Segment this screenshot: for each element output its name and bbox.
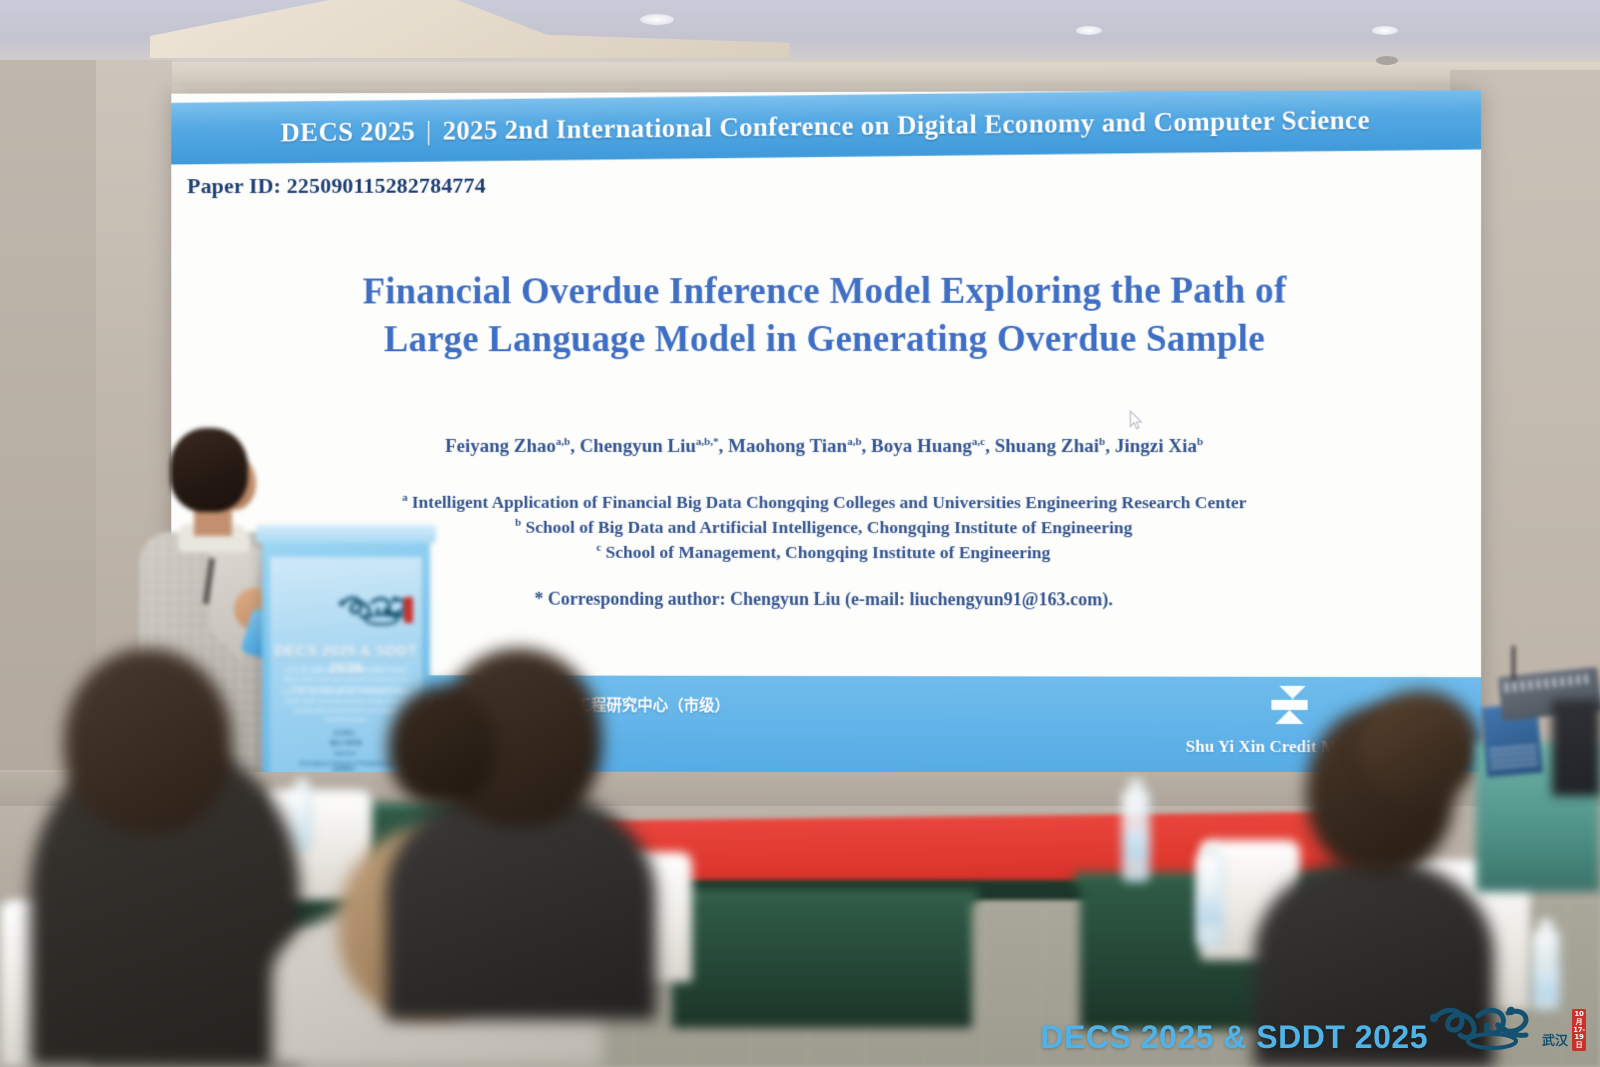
podium-subtitle-cn-2: 2025 第三届可持续发展与数字化转型国际学术会议 bbox=[276, 689, 416, 698]
conference-2025-logo-icon bbox=[336, 591, 412, 627]
mouse-cursor-icon bbox=[1129, 410, 1144, 431]
watermark: DECS 2025 & SDDT 2025 武汉 10月 17- 19日 bbox=[1040, 999, 1586, 1053]
affiliation-item: a Intelligent Application of Financial B… bbox=[191, 490, 1461, 516]
watermark-date-line-1: 10月 bbox=[1572, 1011, 1586, 1027]
presenter-head bbox=[170, 428, 248, 512]
slide-title-line-2: Large Language Model in Generating Overd… bbox=[231, 316, 1421, 365]
slide-title-line-1: Financial Overdue Inference Model Explor… bbox=[231, 267, 1421, 316]
author-entry: Boya Huanga,c bbox=[871, 436, 985, 457]
downlight-icon bbox=[1372, 26, 1398, 35]
paper-id-label: Paper ID: 225090115282784774 bbox=[187, 173, 486, 199]
slide-title: Financial Overdue Inference Model Explor… bbox=[231, 267, 1421, 364]
banner-conference-code: DECS 2025 bbox=[281, 115, 416, 147]
podium-date-tag bbox=[404, 597, 413, 623]
bottle-label bbox=[1196, 895, 1224, 925]
watermark-text: DECS 2025 & SDDT 2025 bbox=[1040, 1021, 1428, 1053]
author-list: Feiyang Zhaoa,b, Chengyun Liua,b,*, Maoh… bbox=[211, 436, 1441, 458]
av-stand bbox=[1512, 646, 1515, 680]
author-entry: Jingzi Xiab bbox=[1115, 436, 1203, 457]
audience-table bbox=[672, 898, 972, 1028]
smoke-detector-icon bbox=[1376, 56, 1398, 65]
conference-room-scene: DECS 2025 | 2025 2nd International Confe… bbox=[0, 0, 1600, 1067]
sponsor-s-logo-icon bbox=[1259, 683, 1317, 735]
watermark-2025-logo-icon bbox=[1426, 999, 1538, 1055]
water-bottle bbox=[1122, 790, 1150, 882]
banner-conference-title: 2025 2nd International Conference on Dig… bbox=[443, 104, 1370, 146]
author-entry: Feiyang Zhaoa,b bbox=[445, 436, 570, 457]
banner-separator: | bbox=[426, 115, 432, 146]
author-entry: Shuang Zhaib bbox=[995, 436, 1106, 457]
bottle-label bbox=[1532, 970, 1560, 1000]
watermark-date-line-3: 19日 bbox=[1572, 1034, 1586, 1050]
watermark-date-tag: 10月 17- 19日 bbox=[1572, 1009, 1586, 1051]
downlight-icon bbox=[640, 14, 674, 25]
podium-top-surface bbox=[256, 525, 436, 543]
bottle-label bbox=[1122, 830, 1150, 860]
downlight-icon bbox=[1076, 26, 1102, 35]
audience-member-head bbox=[388, 686, 496, 806]
author-entry: Maohong Tiana,b bbox=[728, 436, 861, 457]
water-bottle bbox=[1196, 855, 1224, 947]
water-bottle bbox=[1532, 930, 1560, 1010]
audience-member-head bbox=[64, 648, 232, 834]
slide-header-banner: DECS 2025 | 2025 2nd International Confe… bbox=[171, 90, 1481, 164]
author-entry: Chengyun Liua,b,* bbox=[580, 436, 719, 457]
table-top bbox=[666, 890, 978, 904]
podium-subtitle-cn-1: 2025 第二届数字经济与计算机科学国际学术会议 bbox=[276, 667, 416, 676]
audience-member-head bbox=[1360, 690, 1480, 800]
loudspeaker bbox=[1552, 700, 1600, 796]
watermark-city-cn: 武汉 bbox=[1542, 1035, 1568, 1049]
